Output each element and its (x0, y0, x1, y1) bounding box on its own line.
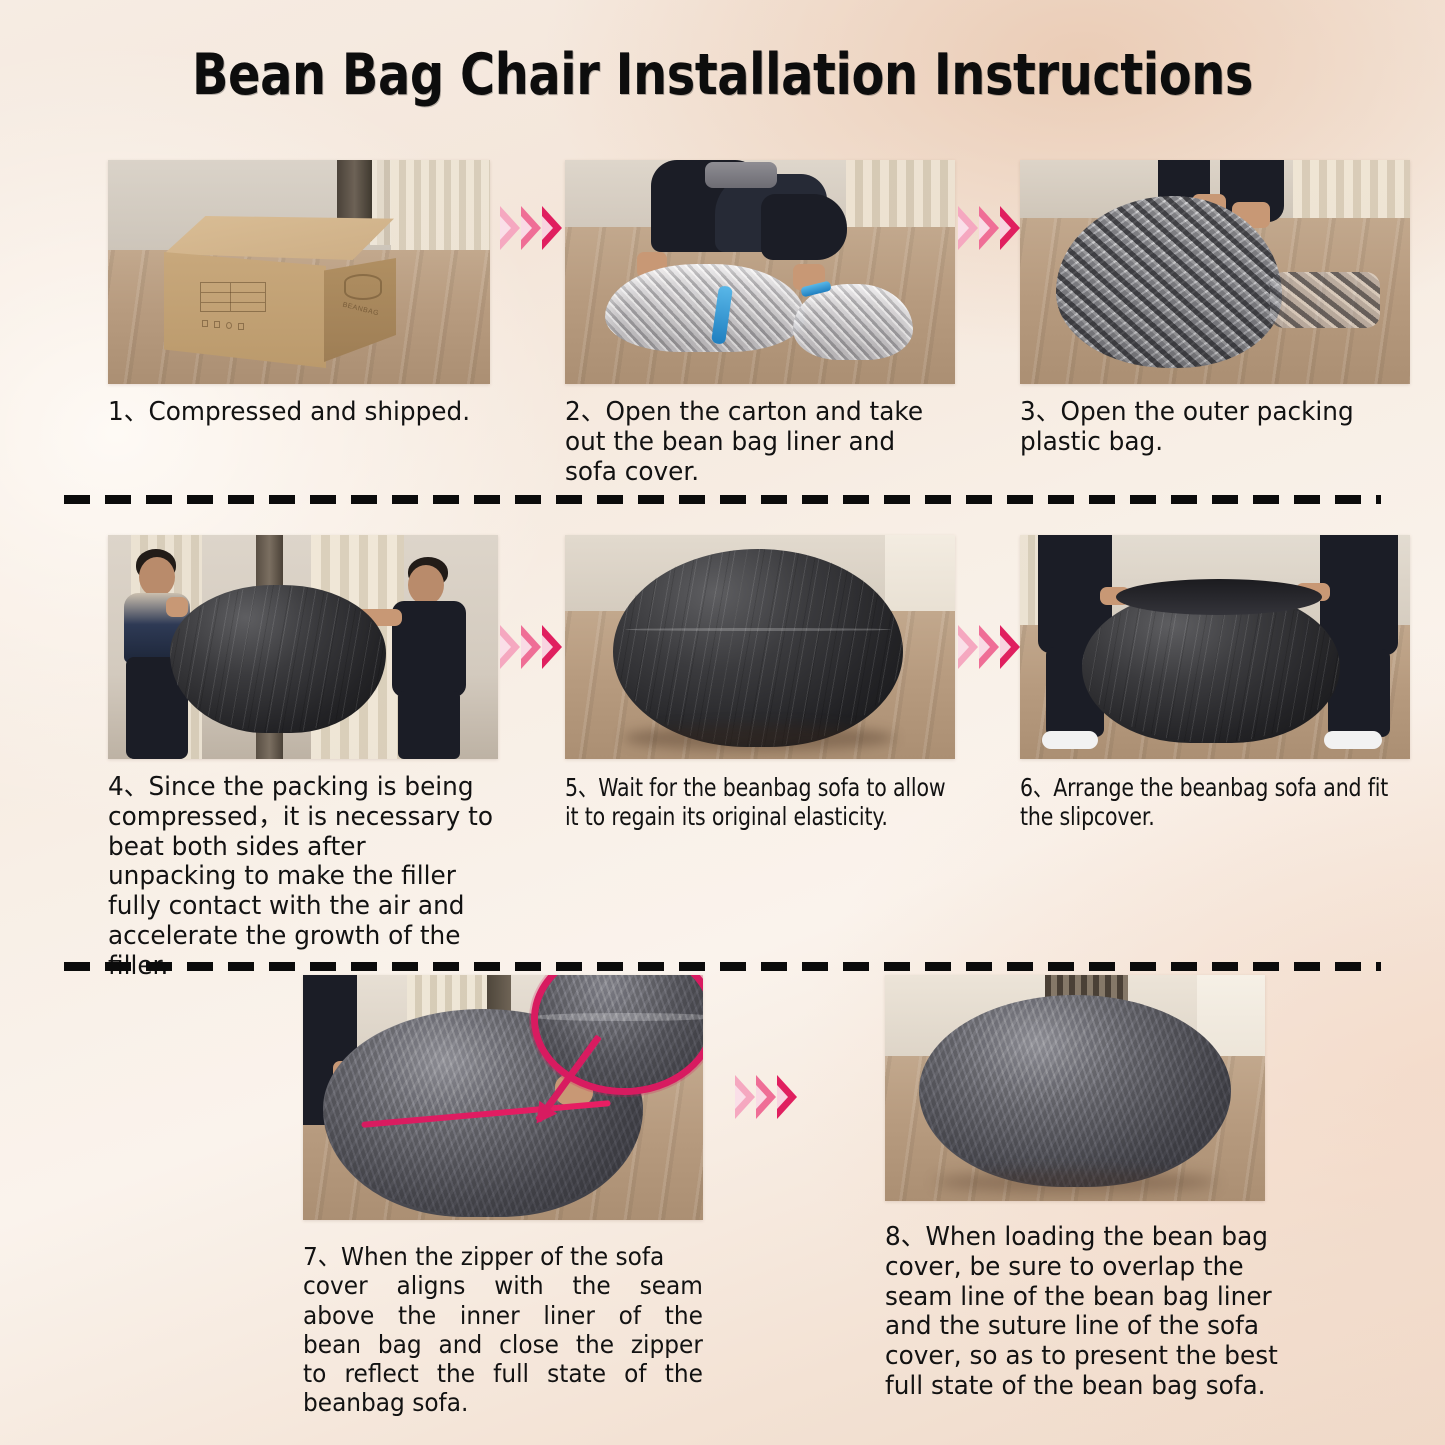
chevron-right-icon (979, 625, 999, 669)
step-8-cell: 8、When loading the bean bag cover, be su… (885, 975, 1285, 1402)
photo-step-5-regain-elasticity (565, 535, 955, 759)
step-5-caption: 5、Wait for the beanbag sofa to allow it … (565, 773, 950, 832)
step-6-caption: 6、Arrange the beanbag sofa and fit the s… (1020, 773, 1405, 832)
steps-row-3: 7、When the zipper of the sofa cover alig… (0, 975, 1445, 1435)
step-1-caption: 1、Compressed and shipped. (108, 398, 479, 428)
chevron-right-icon (1000, 625, 1020, 669)
chevron-right-icon (958, 625, 978, 669)
chevron-right-icon (979, 206, 999, 250)
chevron-right-icon (542, 206, 562, 250)
step-7-caption-line: above the inner liner of the (303, 1301, 703, 1330)
chevron-right-icon (521, 206, 541, 250)
step-7-caption-line: cover aligns with the seam (303, 1271, 703, 1300)
chevron-right-icon (735, 1075, 755, 1119)
chevron-right-icon (756, 1075, 776, 1119)
step-7-caption: 7、When the zipper of the sofa cover alig… (303, 1242, 703, 1418)
chevron-right-icon (500, 206, 520, 250)
chevron-right-icon (521, 625, 541, 669)
arrow-step-7-to-8 (735, 1075, 797, 1119)
chevron-right-icon (1000, 206, 1020, 250)
bean-bag-liner-round (613, 549, 903, 747)
step-1-cell: BEANBAG 1、Compressed and shipped. (108, 160, 490, 428)
person-right-head (408, 565, 444, 605)
photo-step-1-shipping-carton: BEANBAG (108, 160, 490, 384)
step-2-cell: 2、Open the carton and take out the bean … (565, 160, 955, 487)
carton-beanbag-logo-icon (344, 274, 382, 300)
photo-step-2-open-carton (565, 160, 955, 384)
step-3-cell: 3、Open the outer packing plastic bag. (1020, 160, 1410, 458)
bean-bag-liner (170, 585, 386, 733)
carton-shipping-label (200, 282, 266, 312)
photo-step-4-beat-both-sides (108, 535, 498, 759)
step-7-caption-line: beanbag sofa. (303, 1388, 703, 1417)
step-2-caption: 2、Open the carton and take out the bean … (565, 398, 948, 487)
step-7-cell: 7、When the zipper of the sofa cover alig… (303, 975, 703, 1418)
chevron-right-icon (777, 1075, 797, 1119)
photo-step-8-finished-beanbag (885, 975, 1265, 1201)
person-left-head (139, 557, 175, 597)
steps-row-1: BEANBAG 1、Compressed and shipped. (0, 160, 1445, 490)
step-7-caption-line: 7、When the zipper of the sofa (303, 1242, 703, 1271)
arrow-step-5-to-6 (958, 625, 1020, 669)
arrow-step-2-to-3 (958, 206, 1020, 250)
magnified-seam-callout (531, 975, 703, 1095)
step-5-cell: 5、Wait for the beanbag sofa to allow it … (565, 535, 955, 832)
step-8-caption: 8、When loading the bean bag cover, be su… (885, 1223, 1283, 1402)
step-4-caption: 4、Since the packing is being compressed，… (108, 773, 496, 982)
chevron-right-icon (500, 625, 520, 669)
steps-row-2: 4、Since the packing is being compressed，… (0, 535, 1445, 955)
photo-step-6-fit-slipcover (1020, 535, 1410, 759)
dashed-divider-2 (64, 962, 1381, 971)
photo-step-7-close-zipper (303, 975, 703, 1220)
arrow-step-1-to-2 (500, 206, 562, 250)
photo-step-3-open-plastic-bag (1020, 160, 1410, 384)
dashed-divider-1 (64, 495, 1381, 504)
step-6-cell: 6、Arrange the beanbag sofa and fit the s… (1020, 535, 1410, 832)
chevron-right-icon (542, 625, 562, 669)
step-7-caption-line: to reflect the full state of the (303, 1359, 703, 1388)
step-7-caption-line: bean bag and close the zipper (303, 1330, 703, 1359)
step-4-cell: 4、Since the packing is being compressed，… (108, 535, 498, 982)
finished-bean-bag-chair (919, 995, 1231, 1187)
chevron-right-icon (958, 206, 978, 250)
step-3-caption: 3、Open the outer packing plastic bag. (1020, 398, 1398, 458)
vacuum-bag-large (605, 264, 805, 352)
slipcover-edge (1116, 579, 1322, 615)
arrow-step-4-to-5 (500, 625, 562, 669)
page-title: Bean Bag Chair Installation Instructions (116, 42, 1330, 108)
